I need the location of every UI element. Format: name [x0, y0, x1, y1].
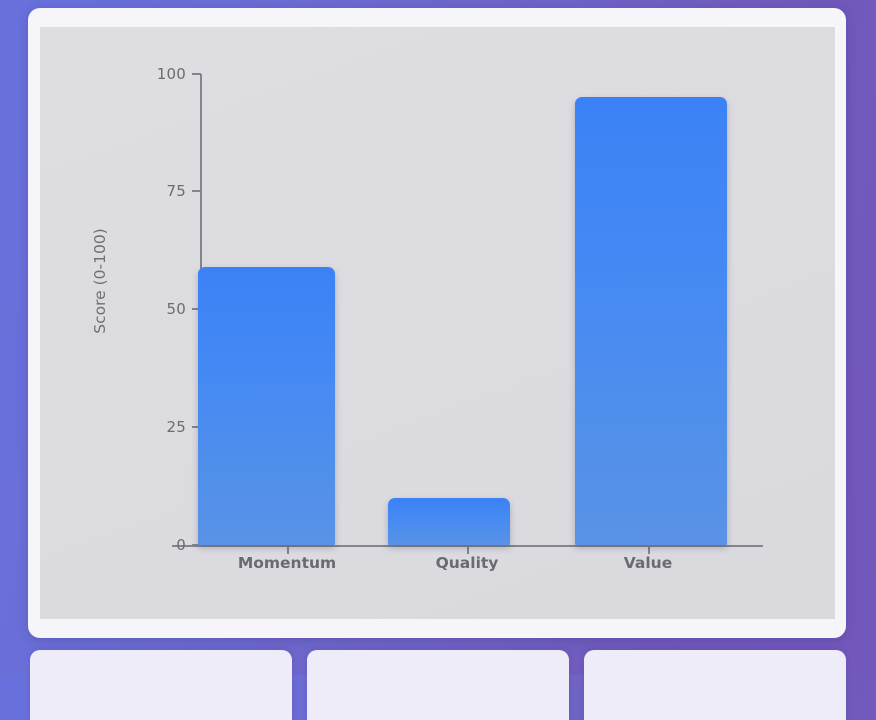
x-tick-mark-value	[648, 545, 650, 554]
chart-card: Score (0-100) 0 25 50 75 100	[28, 8, 846, 638]
bar-chart-plot-area: Score (0-100) 0 25 50 75 100	[40, 27, 835, 619]
y-axis-title: Score (0-100)	[91, 196, 109, 366]
bar-quality[interactable]	[388, 498, 510, 545]
y-tick-mark-75	[192, 190, 201, 192]
x-axis-label-momentum: Momentum	[212, 554, 362, 572]
y-tick-label-25: 25	[126, 418, 186, 436]
bar-momentum[interactable]	[198, 267, 335, 545]
y-tick-mark-100	[192, 73, 201, 75]
x-tick-mark-momentum	[287, 545, 289, 554]
y-tick-label-0: 0	[126, 536, 186, 554]
bar-value[interactable]	[575, 97, 727, 545]
y-tick-label-100: 100	[126, 65, 186, 83]
stat-card-2[interactable]	[307, 650, 569, 720]
y-tick-label-50: 50	[126, 300, 186, 318]
stat-card-1[interactable]	[30, 650, 292, 720]
y-tick-label-75: 75	[126, 182, 186, 200]
x-tick-mark-quality	[467, 545, 469, 554]
x-axis-label-quality: Quality	[392, 554, 542, 572]
stat-card-3[interactable]	[584, 650, 846, 720]
x-axis-label-value: Value	[573, 554, 723, 572]
